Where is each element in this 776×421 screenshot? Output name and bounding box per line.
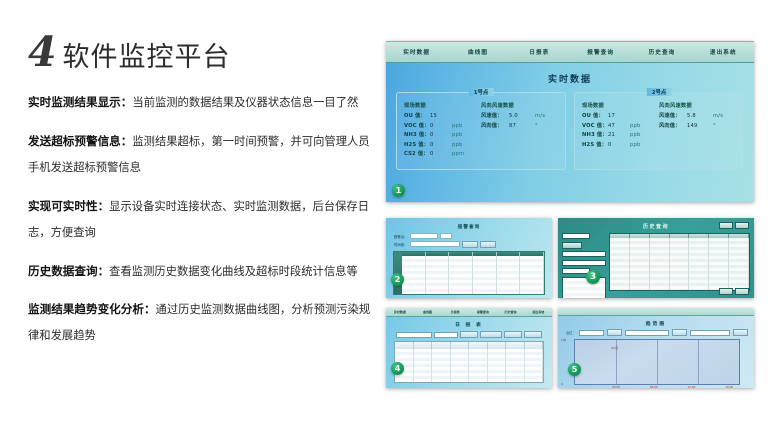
data-unit: ° [535, 123, 538, 129]
data-row: H2S 值： 0 ppb [404, 141, 481, 148]
trend-point-select[interactable] [579, 330, 605, 336]
y-axis-tick: 100 [561, 338, 566, 342]
alarm-filter-form[interactable]: 报警点： 时间段： [386, 230, 552, 248]
data-row: VOC 值： 47 ppb [582, 122, 659, 129]
step-badge-3: 3 [586, 270, 600, 284]
data-unit: ppb [630, 142, 640, 148]
history-prev-button[interactable] [719, 288, 733, 295]
data-key: NH3 值： [404, 131, 430, 138]
daily-date-input[interactable] [396, 332, 432, 338]
menu-item-daily[interactable]: 日报表 [441, 310, 469, 314]
trend-query-button[interactable] [607, 329, 622, 336]
data-row: 风速值： 5.0 m/s [481, 112, 558, 119]
trend-series-label: OU值 [611, 346, 618, 350]
daily-filter-form[interactable] [386, 328, 552, 338]
menu-item-alarm[interactable]: 报警查询 [570, 48, 631, 56]
table-body [395, 349, 543, 382]
data-key: 风向值： [481, 122, 509, 129]
history-results-table[interactable] [609, 233, 750, 291]
table-body [610, 238, 749, 290]
slide-title: 4 软件监控平台 [28, 26, 378, 72]
data-unit: ppb [452, 123, 462, 129]
x-axis-tick: 12:00 [687, 385, 695, 388]
wind-data-group: 风向风速数据 风速值： 5.0 m/s 风向值： 87 ° [481, 102, 558, 160]
data-unit: ppb [630, 132, 640, 138]
data-row: OU 值： 15 [404, 112, 481, 119]
menu-item-history[interactable]: 历史查询 [631, 48, 692, 56]
menu-item-exit[interactable]: 退出系统 [524, 310, 552, 314]
trend-filter-form[interactable]: 点位： [558, 327, 754, 336]
data-row: OU 值： 17 [582, 112, 659, 119]
bullet-body: 查看监测历史数据变化曲线及超标时段统计信息等 [109, 265, 358, 278]
table-header-row [395, 342, 543, 349]
bullet-item: 历史数据查询：查看监测历史数据变化曲线及超标时段统计信息等 [28, 257, 378, 283]
data-key: VOC 值： [404, 122, 430, 129]
data-value: 0 [430, 132, 452, 138]
data-value: 5.8 [687, 113, 713, 119]
alarm-results-table[interactable] [393, 251, 545, 295]
data-value: 0 [430, 123, 452, 129]
data-row: NH3 值： 21 ppb [582, 131, 659, 138]
field-data-title: 现场数据 [582, 102, 659, 109]
field-data-title: 现场数据 [404, 102, 481, 109]
history-bottom-buttons[interactable] [719, 288, 749, 295]
data-key: 风向值： [659, 122, 687, 129]
alarm-point-dropdown[interactable] [440, 233, 452, 239]
app-menu-bar[interactable]: 实时数据 曲线图 日报表 报警查询 历史查询 退出系统 [386, 308, 552, 317]
app-menu-bar[interactable]: 实时数据 曲线图 日报表 报警查询 历史查询 退出系统 [386, 41, 754, 63]
daily-report-table[interactable] [394, 341, 544, 383]
daily-close-button[interactable] [524, 331, 542, 338]
alarm-query-button[interactable] [462, 241, 478, 248]
trend-point-label: 点位： [566, 330, 576, 335]
trend-series-select[interactable] [690, 330, 730, 336]
data-key: OU 值： [582, 112, 608, 119]
data-row: 风速值： 5.8 m/s [659, 112, 736, 119]
alarm-heading: 报警查询 [386, 218, 552, 230]
history-point-select[interactable] [562, 233, 590, 239]
menu-item-realtime[interactable]: 实时数据 [386, 310, 414, 314]
bullet-item: 发送超标预警信息：监测结果超标，第一时间预警，并可向管理人员手机发送超标预警信息 [28, 127, 378, 179]
data-key: CS2 值： [404, 150, 430, 157]
data-value: 47 [608, 123, 630, 129]
alarm-range-input[interactable] [410, 241, 460, 247]
wind-data-group: 风向风速数据 风速值： 5.8 m/s 风向值： 149 ° [659, 102, 736, 150]
step-badge-5: 5 [568, 363, 581, 376]
data-key: OU 值： [404, 112, 430, 119]
menu-item-curve[interactable]: 曲线图 [447, 48, 508, 56]
table-body [402, 256, 544, 294]
data-key: 风速值： [481, 112, 509, 119]
data-value: 0 [430, 151, 452, 157]
history-next-button[interactable] [735, 288, 749, 295]
bullet-lead: 监测结果趋势变化分析： [28, 302, 156, 316]
history-print-button[interactable] [735, 222, 749, 229]
bullet-item: 实现可实时性：显示设备实时连接状态、实时监测数据，后台保存日志，方便查询 [28, 192, 378, 244]
history-start-date[interactable] [562, 251, 606, 257]
alarm-point-label: 报警点： [394, 234, 408, 239]
data-row: CS2 值： 0 ppm [404, 150, 481, 157]
bullet-body: 当前监测的数据结果及仪器状态信息一目了然 [132, 96, 358, 109]
bullet-item: 监测结果趋势变化分析：通过历史监测数据曲线图，分析预测污染规律和发展趋势 [28, 295, 378, 347]
station-panel-1: 1号点 现场数据 OU 值： 15 VOC 值： 0 [396, 92, 566, 170]
grid-line [657, 340, 658, 384]
data-unit: ppb [630, 123, 640, 129]
data-unit: m/s [535, 113, 545, 119]
data-row: 风向值： 87 ° [481, 122, 558, 129]
menu-item-realtime[interactable]: 实时数据 [386, 48, 447, 56]
realtime-heading: 实时数据 [386, 63, 754, 85]
page-title: 软件监控平台 [63, 44, 231, 72]
trend-plot-area: OU值 100 0 00:00 06:00 12:00 18:00 [574, 339, 740, 385]
station-legend: 1号点 [469, 88, 494, 96]
trend-heading: 趋势图 [558, 316, 754, 327]
data-key: 风速值： [659, 112, 687, 119]
step-badge-2: 2 [391, 273, 404, 286]
daily-query-button[interactable] [460, 331, 478, 338]
trend-refresh-button[interactable] [672, 329, 687, 336]
history-end-date[interactable] [562, 260, 606, 266]
data-unit: ppb [452, 142, 462, 148]
data-unit: ppb [452, 132, 462, 138]
data-key: NH3 值： [582, 131, 608, 138]
app-title-bar [558, 308, 754, 316]
data-value: 15 [430, 113, 452, 119]
alarm-export-button[interactable] [480, 241, 496, 248]
history-search-button[interactable] [562, 242, 582, 249]
data-row: 风向值： 149 ° [659, 122, 736, 129]
bullet-lead: 历史数据查询： [28, 264, 109, 278]
data-value: 21 [608, 132, 630, 138]
history-top-buttons[interactable] [719, 222, 749, 229]
data-key: H2S 值： [582, 141, 608, 148]
y-axis-tick: 0 [561, 382, 563, 386]
bullet-lead: 实时监测结果显示： [28, 95, 132, 109]
daily-print-button[interactable] [504, 331, 522, 338]
data-row: H2S 值： 0 ppb [582, 141, 659, 148]
alarm-point-input[interactable] [410, 233, 438, 239]
data-value: 0 [430, 142, 452, 148]
menu-item-history[interactable]: 历史查询 [497, 310, 525, 314]
screenshot-realtime-data[interactable]: 实时数据 曲线图 日报表 报警查询 历史查询 退出系统 实时数据 1号点 现场数… [386, 41, 754, 202]
slide-page: 4 软件监控平台 实时监测结果显示：当前监测的数据结果及仪器状态信息一目了然 发… [0, 0, 776, 421]
content-column: 4 软件监控平台 实时监测结果显示：当前监测的数据结果及仪器状态信息一目了然 发… [28, 26, 378, 396]
wind-data-title: 风向风速数据 [659, 102, 736, 109]
field-data-group: 现场数据 OU 值： 17 VOC 值： 47 ppb [582, 102, 659, 150]
trend-print-button[interactable] [733, 329, 748, 336]
daily-export-button[interactable] [480, 331, 502, 338]
data-value: 0 [608, 142, 630, 148]
data-unit: ppm [452, 151, 464, 157]
history-query-button[interactable] [719, 222, 733, 229]
screenshot-alarm-query[interactable]: 报警查询 报警点： 时间段： [386, 218, 552, 298]
step-badge-4: 4 [391, 362, 404, 375]
station-legend: 2号点 [647, 88, 672, 96]
menu-item-alarm[interactable]: 报警查询 [469, 310, 497, 314]
daily-heading: 日 报 表 [386, 317, 552, 328]
station-panels: 1号点 现场数据 OU 值： 15 VOC 值： 0 [386, 85, 754, 170]
step-badge-1: 1 [392, 184, 405, 197]
data-key: H2S 值： [404, 141, 430, 148]
data-key: VOC 值： [582, 122, 608, 129]
bullet-item: 实时监测结果显示：当前监测的数据结果及仪器状态信息一目了然 [28, 88, 378, 114]
data-row: NH3 值： 0 ppb [404, 131, 481, 138]
bullet-lead: 发送超标预警信息： [28, 134, 132, 148]
x-axis-tick: 06:00 [650, 385, 658, 388]
history-filter-panel[interactable] [562, 233, 606, 298]
screenshot-daily-report[interactable]: 实时数据 曲线图 日报表 报警查询 历史查询 退出系统 日 报 表 4 [386, 308, 552, 388]
data-value: 17 [608, 113, 630, 119]
grid-line [698, 340, 699, 384]
menu-item-exit[interactable]: 退出系统 [693, 48, 754, 56]
daily-point-select[interactable] [434, 332, 458, 338]
screenshot-history-query[interactable]: 历史查询 [558, 218, 754, 298]
field-data-group: 现场数据 OU 值： 15 VOC 值： 0 ppb [404, 102, 481, 160]
data-unit: ° [713, 123, 716, 129]
x-axis-tick: 18:00 [725, 385, 733, 388]
station-panel-2: 2号点 现场数据 OU 值： 17 VOC 值： 47 [574, 92, 744, 170]
data-value: 87 [509, 123, 535, 129]
menu-item-daily[interactable]: 日报表 [509, 48, 570, 56]
data-value: 5.0 [509, 113, 535, 119]
data-row: VOC 值： 0 ppb [404, 122, 481, 129]
wind-data-title: 风向风速数据 [481, 102, 558, 109]
menu-item-curve[interactable]: 曲线图 [414, 310, 442, 314]
alarm-range-label: 时间段： [394, 242, 408, 247]
data-value: 149 [687, 123, 713, 129]
data-unit: m/s [713, 113, 723, 119]
x-axis-tick: 00:00 [612, 385, 620, 388]
bullet-lead: 实现可实时性： [28, 199, 109, 213]
trend-range-input[interactable] [625, 330, 669, 336]
realtime-body: 实时数据 1号点 现场数据 OU 值： 15 [386, 63, 754, 202]
slide-number: 4 [28, 33, 56, 72]
screenshot-trend-chart[interactable]: 趋势图 点位： OU值 100 0 00:00 06:00 12:00 18:0… [558, 308, 754, 388]
